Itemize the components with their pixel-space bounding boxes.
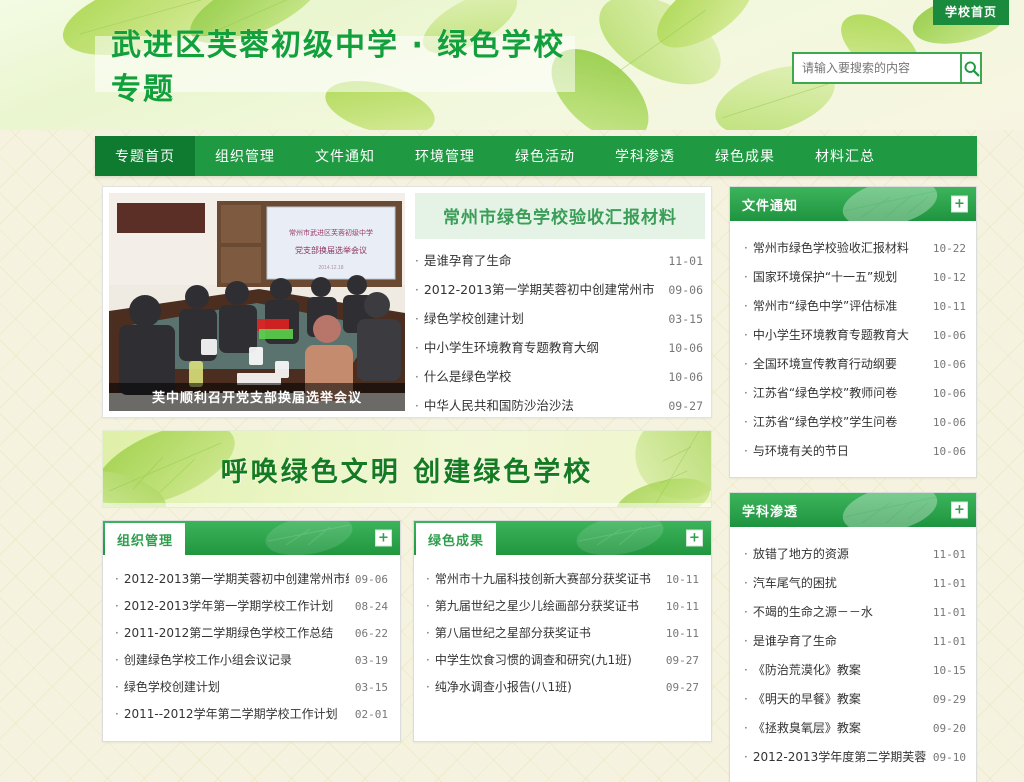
notice-box-more-button[interactable]: + xyxy=(951,196,968,213)
list-item-date: 10-15 xyxy=(933,664,966,677)
search-icon xyxy=(963,60,980,77)
list-item-date: 10-11 xyxy=(933,300,966,313)
right-sidebar: 文件通知 + · 常州市绿色学校验收汇报材料 10-22 · 国家环境保护“十一… xyxy=(729,186,977,782)
list-item[interactable]: · 江苏省“绿色学校”学生问卷 10-06 xyxy=(740,407,966,436)
list-item-title: 2012-2013学年度第二学期芙蓉 xyxy=(753,748,928,765)
bullet-icon: · xyxy=(744,386,748,400)
headline-title: 常州市绿色学校验收汇报材料 xyxy=(415,193,705,239)
leaf-icon xyxy=(575,521,665,555)
list-item-title: 与环境有关的节日 xyxy=(753,442,928,459)
list-item-date: 09-29 xyxy=(933,693,966,706)
bullet-icon: · xyxy=(415,399,419,413)
list-item-date: 09-06 xyxy=(668,283,703,297)
slogan-text: 呼唤绿色文明 创建绿色学校 xyxy=(221,450,593,489)
list-item-date: 09-06 xyxy=(355,573,388,586)
bullet-icon: · xyxy=(415,254,419,268)
list-item-date: 10-11 xyxy=(666,573,699,586)
site-title-plate: 武进区芙蓉初级中学 · 绿色学校专题 xyxy=(95,36,575,92)
list-item-date: 11-01 xyxy=(933,635,966,648)
list-item[interactable]: · 2012-2013学年第一学期学校工作计划 08-24 xyxy=(115,592,388,619)
list-item-date: 06-22 xyxy=(355,627,388,640)
list-item-title: 全国环境宣传教育行动纲要 xyxy=(753,355,928,372)
bullet-icon: · xyxy=(115,653,119,667)
bullet-icon: · xyxy=(744,547,748,561)
list-item-date: 10-11 xyxy=(666,600,699,613)
list-item[interactable]: · 《拯救臭氧层》教案 09-20 xyxy=(740,713,966,742)
list-item[interactable]: · 放错了地方的资源 11-01 xyxy=(740,539,966,568)
list-item-title: 第九届世纪之星少儿绘画部分获奖证书 xyxy=(435,597,660,614)
notice-box-list: · 常州市绿色学校验收汇报材料 10-22 · 国家环境保护“十一五”规划 10… xyxy=(730,221,976,477)
bullet-icon: · xyxy=(744,415,748,429)
headline-column: 常州市绿色学校验收汇报材料 · 是谁孕育了生命 11-01 · 2012-201… xyxy=(405,193,705,411)
nav-item-0[interactable]: 专题首页 xyxy=(95,136,195,176)
list-item[interactable]: · 《明天的早餐》教案 09-29 xyxy=(740,684,966,713)
bullet-icon: · xyxy=(744,692,748,706)
nav-item-3[interactable]: 环境管理 xyxy=(395,136,495,176)
list-item[interactable]: · 第八届世纪之星部分获奖证书 10-11 xyxy=(426,619,699,646)
notice-box: 文件通知 + · 常州市绿色学校验收汇报材料 10-22 · 国家环境保护“十一… xyxy=(729,186,977,478)
list-item-title: 2012-2013第一学期芙蓉初中创建常州市绿 xyxy=(124,570,349,587)
list-item-title: 中学生饮食习惯的调查和研究(九1班) xyxy=(435,651,660,668)
bullet-icon: · xyxy=(115,572,119,586)
list-item-date: 10-22 xyxy=(933,242,966,255)
list-item-title: 江苏省“绿色学校”学生问卷 xyxy=(753,413,928,430)
list-item-date: 11-01 xyxy=(668,254,703,268)
bullet-icon: · xyxy=(744,634,748,648)
list-item[interactable]: · 常州市“绿色中学”评估标准 10-11 xyxy=(740,291,966,320)
nav-item-4[interactable]: 绿色活动 xyxy=(495,136,595,176)
list-item-date: 10-06 xyxy=(668,341,703,355)
list-item[interactable]: · 是谁孕育了生命 11-01 xyxy=(740,626,966,655)
svg-text:常州市武进区芙蓉初级中学: 常州市武进区芙蓉初级中学 xyxy=(289,228,373,237)
headline-list: · 是谁孕育了生命 11-01 · 2012-2013第一学期芙蓉初中创建常州市… xyxy=(415,239,705,419)
list-item-date: 03-15 xyxy=(668,312,703,326)
list-item-date: 10-06 xyxy=(668,370,703,384)
list-item-title: 是谁孕育了生命 xyxy=(424,250,663,269)
bullet-icon: · xyxy=(744,328,748,342)
slogan-banner: 呼唤绿色文明 创建绿色学校 xyxy=(102,430,712,508)
list-item-title: 什么是绿色学校 xyxy=(424,366,663,385)
list-item-date: 10-06 xyxy=(933,329,966,342)
list-item-date: 09-27 xyxy=(666,681,699,694)
bullet-icon: · xyxy=(115,626,119,640)
list-item-date: 10-06 xyxy=(933,416,966,429)
list-item[interactable]: · 全国环境宣传教育行动纲要 10-06 xyxy=(740,349,966,378)
svg-text:2014.12.18: 2014.12.18 xyxy=(318,265,343,271)
bullet-icon: · xyxy=(426,680,430,694)
list-item[interactable]: · 第九届世纪之星少儿绘画部分获奖证书 10-11 xyxy=(426,592,699,619)
bullet-icon: · xyxy=(744,444,748,458)
bullet-icon: · xyxy=(744,299,748,313)
leaf-icon xyxy=(840,187,940,221)
sidebar-gap xyxy=(729,478,977,492)
bullet-icon: · xyxy=(744,576,748,590)
list-item[interactable]: · 2012-2013第一学期芙蓉初中创建常州市 09-06 xyxy=(415,274,705,303)
bullet-icon: · xyxy=(744,270,748,284)
subject-box-more-button[interactable]: + xyxy=(951,502,968,519)
list-item-title: 中华人民共和国防沙治沙法 xyxy=(424,395,663,414)
list-item-date: 10-11 xyxy=(666,627,699,640)
list-item-date: 10-12 xyxy=(933,271,966,284)
notice-box-title: 文件通知 xyxy=(730,195,798,214)
results-box-more-button[interactable]: + xyxy=(686,530,703,547)
list-item[interactable]: · 汽车尾气的困扰 11-01 xyxy=(740,568,966,597)
list-item-title: 江苏省“绿色学校”教师问卷 xyxy=(753,384,928,401)
list-item-title: 《防治荒漠化》教案 xyxy=(753,661,928,678)
bullet-icon: · xyxy=(744,663,748,677)
list-item[interactable]: · 中小学生环境教育专题教育大 10-06 xyxy=(740,320,966,349)
list-item-title: 常州市十九届科技创新大赛部分获奖证书 xyxy=(435,570,660,587)
subject-box-list: · 放错了地方的资源 11-01 · 汽车尾气的困扰 11-01 · 不竭的生命… xyxy=(730,527,976,782)
bullet-icon: · xyxy=(426,599,430,613)
bullet-icon: · xyxy=(744,605,748,619)
list-item-title: 2011--2012学年第二学期学校工作计划 xyxy=(124,705,349,722)
bullet-icon: · xyxy=(426,653,430,667)
list-item-date: 10-06 xyxy=(933,387,966,400)
list-item-date: 11-01 xyxy=(933,577,966,590)
list-item[interactable]: · 2011--2012学年第二学期学校工作计划 02-01 xyxy=(115,700,388,727)
photo-caption: 芙中顺利召开党支部换届选举会议 xyxy=(109,383,405,411)
left-column: 常州市武进区芙蓉初级中学 党支部换届选举会议 2014.12.18 xyxy=(102,186,712,742)
feature-photo[interactable]: 常州市武进区芙蓉初级中学 党支部换届选举会议 2014.12.18 xyxy=(109,193,405,411)
list-item-title: 是谁孕育了生命 xyxy=(753,632,928,649)
subject-box-header: 学科渗透 + xyxy=(730,493,976,527)
subject-box: 学科渗透 + · 放错了地方的资源 11-01 · 汽车尾气的困扰 11-01 … xyxy=(729,492,977,782)
list-item-date: 09-27 xyxy=(666,654,699,667)
list-item[interactable]: · 中小学生环境教育专题教育大纲 10-06 xyxy=(415,332,705,361)
search-button[interactable] xyxy=(960,54,980,82)
svg-text:党支部换届选举会议: 党支部换届选举会议 xyxy=(295,245,367,255)
leaf-icon xyxy=(264,521,354,555)
bullet-icon: · xyxy=(115,599,119,613)
list-item-title: 2011-2012第二学期绿色学校工作总结 xyxy=(124,624,349,641)
list-item-date: 03-15 xyxy=(355,681,388,694)
list-item[interactable]: · 常州市十九届科技创新大赛部分获奖证书 10-11 xyxy=(426,565,699,592)
org-management-box: 组织管理 + · 2012-2013第一学期芙蓉初中创建常州市绿 09-06 xyxy=(102,520,401,742)
list-item[interactable]: · 不竭的生命之源－－水 11-01 xyxy=(740,597,966,626)
list-item-date: 02-01 xyxy=(355,708,388,721)
search-box[interactable] xyxy=(792,52,982,84)
bullet-icon: · xyxy=(744,241,748,255)
list-item-date: 11-01 xyxy=(933,606,966,619)
list-item-title: 第八届世纪之星部分获奖证书 xyxy=(435,624,660,641)
bullet-icon: · xyxy=(426,572,430,586)
list-item-title: 常州市“绿色中学”评估标准 xyxy=(753,297,928,314)
org-box-more-button[interactable]: + xyxy=(375,530,392,547)
bullet-icon: · xyxy=(744,721,748,735)
nav-item-6[interactable]: 绿色成果 xyxy=(695,136,795,176)
list-item-title: 国家环境保护“十一五”规划 xyxy=(753,268,928,285)
list-item[interactable]: · 常州市绿色学校验收汇报材料 10-22 xyxy=(740,233,966,262)
nav-item-5[interactable]: 学科渗透 xyxy=(595,136,695,176)
list-item[interactable]: · 中学生饮食习惯的调查和研究(九1班) 09-27 xyxy=(426,646,699,673)
list-item-date: 11-01 xyxy=(933,548,966,561)
list-item-date: 08-24 xyxy=(355,600,388,613)
bullet-icon: · xyxy=(426,626,430,640)
list-item-date: 10-06 xyxy=(933,358,966,371)
org-box-list: · 2012-2013第一学期芙蓉初中创建常州市绿 09-06 · 2012-2… xyxy=(103,555,400,741)
nav-item-2[interactable]: 文件通知 xyxy=(295,136,395,176)
list-item-title: 绿色学校创建计划 xyxy=(124,678,349,695)
list-item-title: 常州市绿色学校验收汇报材料 xyxy=(753,239,928,256)
list-item-title: 汽车尾气的困扰 xyxy=(753,574,928,591)
bullet-icon: · xyxy=(744,750,748,764)
green-results-box: 绿色成果 + · 常州市十九届科技创新大赛部分获奖证书 10-11 xyxy=(413,520,712,742)
list-item[interactable]: · 《防治荒漠化》教案 10-15 xyxy=(740,655,966,684)
list-item-title: 中小学生环境教育专题教育大 xyxy=(753,326,928,343)
list-item-date: 09-20 xyxy=(933,722,966,735)
meeting-photo-illustration: 常州市武进区芙蓉初级中学 党支部换届选举会议 2014.12.18 xyxy=(109,193,405,411)
list-item-title: 《明天的早餐》教案 xyxy=(753,690,928,707)
list-item-title: 2012-2013第一学期芙蓉初中创建常州市 xyxy=(424,279,663,298)
list-item[interactable]: · 绿色学校创建计划 03-15 xyxy=(415,303,705,332)
bottom-boxes-row: 组织管理 + · 2012-2013第一学期芙蓉初中创建常州市绿 09-06 xyxy=(102,520,712,742)
list-item-date: 03-19 xyxy=(355,654,388,667)
list-item-title: 中小学生环境教育专题教育大纲 xyxy=(424,337,663,356)
list-item-date: 09-27 xyxy=(668,399,703,413)
page-title: 武进区芙蓉初级中学 · 绿色学校专题 xyxy=(95,20,575,108)
list-item[interactable]: · 中华人民共和国防沙治沙法 09-27 xyxy=(415,390,705,419)
list-item-title: 创建绿色学校工作小组会议记录 xyxy=(124,651,349,668)
list-item[interactable]: · 国家环境保护“十一五”规划 10-12 xyxy=(740,262,966,291)
bullet-icon: · xyxy=(115,680,119,694)
school-home-button[interactable]: 学校首页 xyxy=(933,0,1009,25)
results-box-title: 绿色成果 xyxy=(416,523,496,555)
bullet-icon: · xyxy=(415,312,419,326)
list-item[interactable]: · 纯净水调查小报告(八1班) 09-27 xyxy=(426,673,699,700)
site-banner: 学校首页 武进区芙蓉初级中学 · 绿色学校专题 xyxy=(0,0,1024,130)
main-navigation: 专题首页 组织管理 文件通知 环境管理 绿色活动 学科渗透 绿色成果 材料汇总 xyxy=(95,136,977,176)
list-item-title: 放错了地方的资源 xyxy=(753,545,928,562)
list-item-date: 10-06 xyxy=(933,445,966,458)
list-item[interactable]: · 与环境有关的节日 10-06 xyxy=(740,436,966,465)
bullet-icon: · xyxy=(744,357,748,371)
bullet-icon: · xyxy=(415,283,419,297)
bullet-icon: · xyxy=(415,341,419,355)
nav-item-7[interactable]: 材料汇总 xyxy=(795,136,895,176)
list-item[interactable]: · 绿色学校创建计划 03-15 xyxy=(115,673,388,700)
org-box-title: 组织管理 xyxy=(105,523,185,555)
list-item-date: 09-10 xyxy=(933,751,966,764)
list-item-title: 绿色学校创建计划 xyxy=(424,308,663,327)
list-item-title: 2012-2013学年第一学期学校工作计划 xyxy=(124,597,349,614)
leaf-icon xyxy=(840,493,940,527)
bullet-icon: · xyxy=(115,707,119,721)
list-item[interactable]: · 2012-2013学年度第二学期芙蓉 09-10 xyxy=(740,742,966,771)
results-box-list: · 常州市十九届科技创新大赛部分获奖证书 10-11 · 第九届世纪之星少儿绘画… xyxy=(414,555,711,714)
list-item[interactable]: · 2012-2013第一学期芙蓉初中创建常州市绿 09-06 xyxy=(115,565,388,592)
list-item[interactable]: · 2011-2012第二学期绿色学校工作总结 06-22 xyxy=(115,619,388,646)
list-item[interactable]: · 什么是绿色学校 10-06 xyxy=(415,361,705,390)
results-box-header: 绿色成果 + xyxy=(414,521,711,555)
nav-item-1[interactable]: 组织管理 xyxy=(195,136,295,176)
list-item[interactable]: · 创建绿色学校工作小组会议记录 03-19 xyxy=(115,646,388,673)
list-item[interactable]: · 是谁孕育了生命 11-01 xyxy=(415,245,705,274)
notice-box-header: 文件通知 + xyxy=(730,187,976,221)
org-box-header: 组织管理 + xyxy=(103,521,400,555)
search-input[interactable] xyxy=(794,54,960,82)
list-item-title: 纯净水调查小报告(八1班) xyxy=(435,678,660,695)
list-item[interactable]: · 江苏省“绿色学校”教师问卷 10-06 xyxy=(740,378,966,407)
feature-card: 常州市武进区芙蓉初级中学 党支部换届选举会议 2014.12.18 xyxy=(102,186,712,418)
list-item-title: 《拯救臭氧层》教案 xyxy=(753,719,928,736)
subject-box-title: 学科渗透 xyxy=(730,501,798,520)
list-item-title: 不竭的生命之源－－水 xyxy=(753,603,928,620)
bullet-icon: · xyxy=(415,370,419,384)
